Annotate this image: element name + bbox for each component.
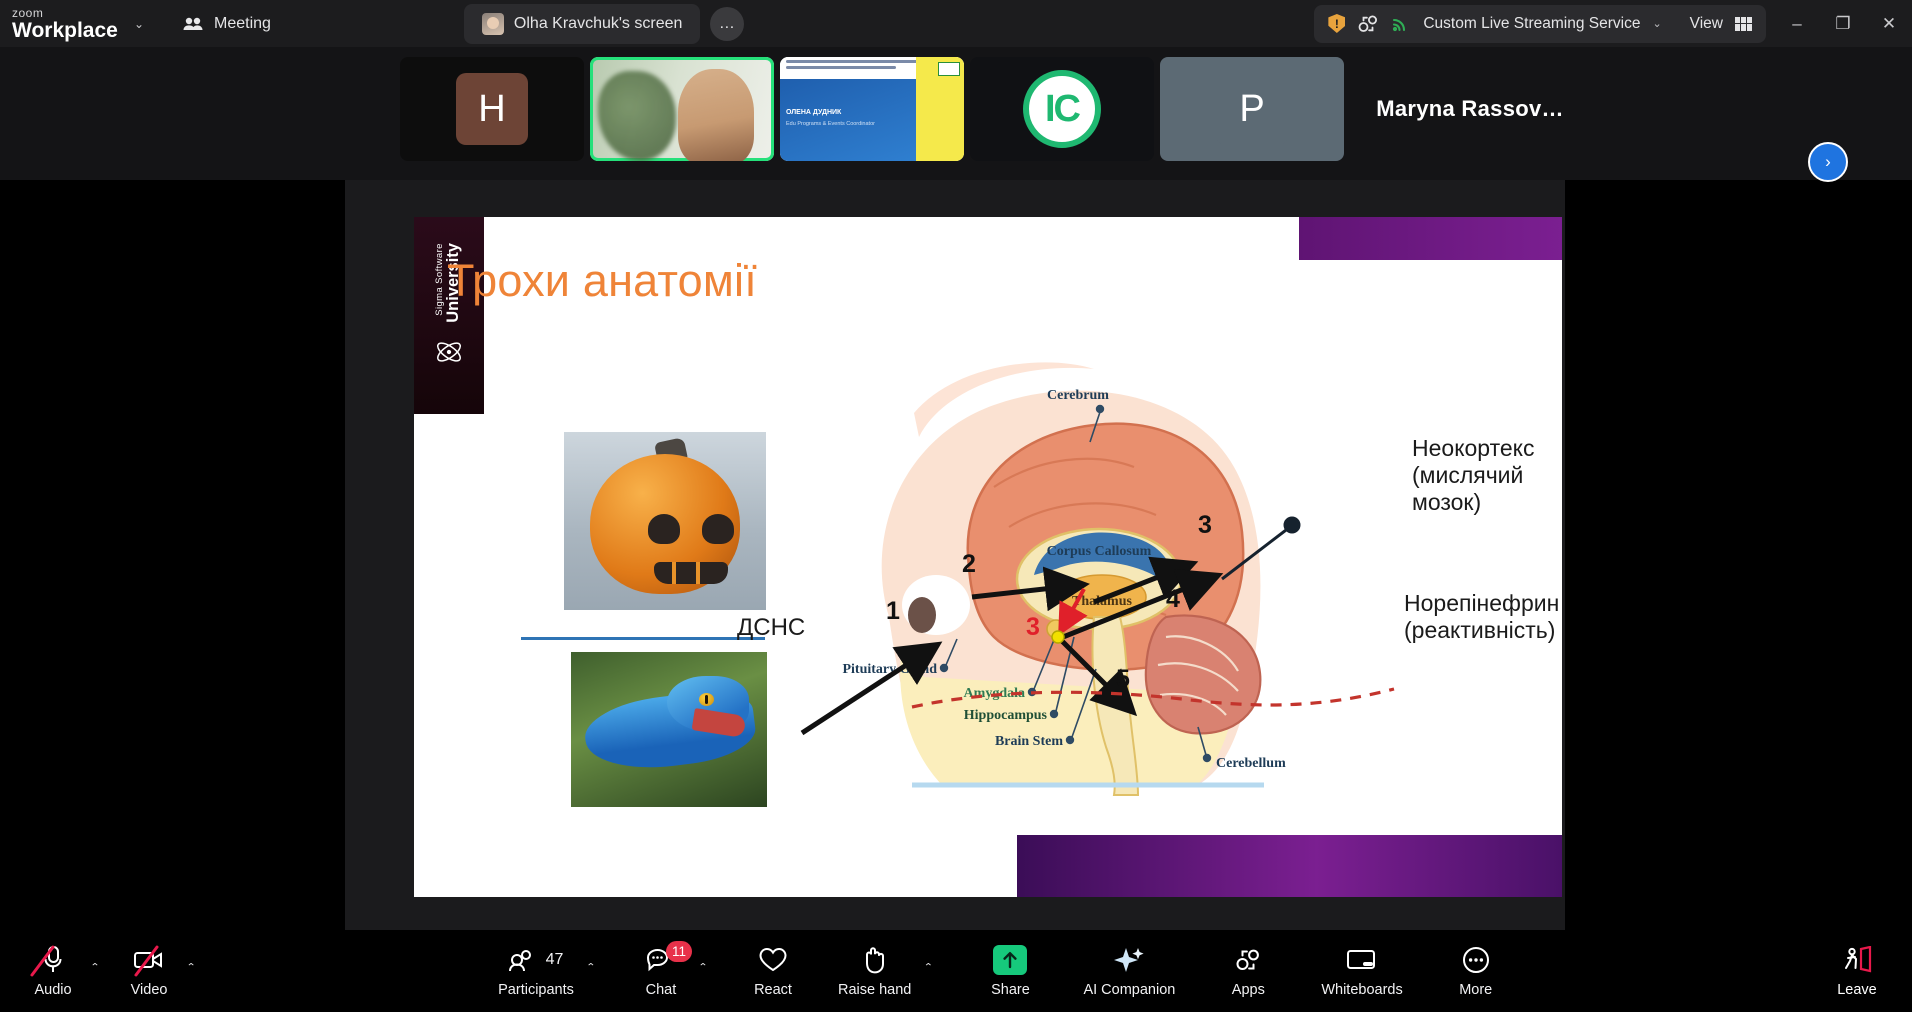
participants-chevron-up-icon[interactable]: ⌃ [580,958,602,976]
arrow-number-5: 5 [1116,665,1130,693]
shared-screen-stage: Sigma Software University Трохи анатомії… [345,180,1565,938]
apps-button[interactable]: Apps [1217,938,1279,1004]
avatar-icon [482,13,504,35]
whiteboard-icon [1346,945,1378,976]
chat-label: Chat [646,982,677,998]
brain-label-cerebrum: Cerebrum [1047,388,1109,403]
raise-hand-button[interactable]: Raise hand [832,938,917,1004]
minimize-button[interactable]: – [1774,0,1820,47]
slide-brand-sidebar: Sigma Software University [414,217,484,414]
more-label: More [1459,982,1492,998]
ai-companion-button[interactable]: AI Companion [1077,938,1181,1004]
microphone-off-icon [40,945,66,976]
slide-title: Трохи анатомії [447,255,757,307]
thumbnail-nadiia[interactable]: H [400,57,584,161]
zoom-meeting-window: zoom Workplace ⌄ Meeting Olha Kravchuk's… [0,0,1912,1012]
leave-button[interactable]: Leave [1826,938,1888,1004]
title-bar: zoom Workplace ⌄ Meeting Olha Kravchuk's… [0,0,1912,47]
thumbnail-olena[interactable]: ОЛЕНА ДУДНИК Edu Programs & Events Coord… [780,57,964,161]
brain-label-corpus-callosum: Corpus Callosum [1047,544,1152,559]
callout-neocortex: Неокортекс (мислячий мозок) [1412,435,1534,516]
arrow-number-3: 3 [1198,511,1212,539]
audio-button[interactable]: Audio [22,938,84,1004]
arrow-number-4: 4 [1166,585,1180,613]
window-controls: – ❐ ✕ [1774,0,1912,47]
raise-hand-label: Raise hand [838,982,911,998]
video-button[interactable]: Video [118,938,180,1004]
tab-meeting-label: Meeting [214,15,271,33]
more-button[interactable]: More [1445,938,1507,1004]
kharkiv-it-cluster-logo: IC [1023,70,1101,148]
snake-eye [699,693,714,706]
chat-button[interactable]: 11 Chat [630,938,692,1004]
zoom-logo[interactable]: zoom Workplace [0,7,120,41]
whiteboards-button[interactable]: Whiteboards [1315,938,1408,1004]
snake-photo [571,652,767,807]
close-button[interactable]: ✕ [1866,0,1912,47]
avatar: H [400,57,584,161]
heart-icon [758,945,788,976]
video-chevron-up-icon[interactable]: ⌃ [180,958,202,976]
people-icon: 47 [509,945,564,976]
stream-chevron-down-icon[interactable]: ⌄ [1652,17,1661,30]
thumbnail-maryna[interactable]: Maryna Rassov… [1350,57,1590,161]
brain-illustration: Cerebrum Corpus Callosum Thalamus Pituit… [794,317,1434,817]
avatar-initial: H [456,73,528,145]
thumbnail-row: H ОЛЕНА ДУДНИК Edu Programs & Events Coo… [400,57,1590,161]
photo-divider [521,637,765,640]
pumpkin-body [590,454,740,594]
share-label: Share [991,982,1030,998]
thumbnail-olha[interactable] [590,57,774,161]
whiteboards-label: Whiteboards [1321,982,1402,998]
audio-label: Audio [34,982,71,998]
tab-shared-screen[interactable]: Olha Kravchuk's screen [464,4,700,44]
atom-icon [434,337,464,367]
audio-chevron-up-icon[interactable]: ⌃ [84,958,106,976]
sparkle-icon [1113,945,1145,976]
ellipsis-icon [1462,945,1490,976]
red-marker-3: 3 [1026,613,1040,641]
leave-label: Leave [1837,982,1877,998]
mini-slide-body: ОЛЕНА ДУДНИК Edu Programs & Events Coord… [780,79,916,161]
brand-zoom: zoom [12,7,120,19]
react-button[interactable]: React [742,938,804,1004]
callout-norepinephrine-line1: Норепінефрин [1404,590,1559,617]
chat-chevron-up-icon[interactable]: ⌃ [692,958,714,976]
callout-norepinephrine-line2: (реактивність) [1404,617,1559,644]
slide-decoration-bottom-right [1017,835,1562,897]
pumpkin-photo [564,432,766,610]
callout-norepinephrine: Норепінефрин (реактивність) [1404,590,1559,644]
callout-neocortex-line3: мозок) [1412,489,1534,516]
restore-button[interactable]: ❐ [1820,0,1866,47]
tab-more-options-button[interactable]: … [710,7,744,41]
mini-qr-icon [938,62,960,76]
hand-icon [862,945,888,976]
video-label: Video [131,982,168,998]
brain-label-cerebellum: Cerebellum [1216,756,1286,771]
pumpkin-mouth [654,562,728,584]
brand-chevron-down-icon[interactable]: ⌄ [126,11,152,37]
participants-label: Participants [498,982,574,998]
raise-hand-chevron-up-icon[interactable]: ⌃ [917,958,939,976]
thumbnail-roman[interactable]: P [1160,57,1344,161]
title-bar-right: Custom Live Streaming Service ⌄ View – ❐… [1314,0,1912,47]
share-screen-icon [993,945,1027,976]
brand-workplace: Workplace [12,20,120,41]
people-icon [182,16,204,32]
callout-dsns: ДСНС [737,614,805,642]
meeting-toolbar: Audio ⌃ Video ⌃ [0,930,1912,1012]
chat-unread-badge: 11 [666,941,692,962]
status-pill: Custom Live Streaming Service ⌄ View [1314,5,1766,43]
camera-off-icon [133,945,165,976]
participants-button[interactable]: 47 Participants [492,938,580,1004]
pumpkin-eye-right [702,514,734,544]
pumpkin-eye-left [648,514,680,544]
mini-slide-role: Edu Programs & Events Coordinator [786,121,875,128]
mini-slide-accent [916,57,964,161]
avatar: P [1160,57,1344,161]
ai-companion-label: AI Companion [1083,982,1175,998]
view-label[interactable]: View [1690,15,1723,33]
thumbnail-polina[interactable]: IC [970,57,1154,161]
react-label: React [754,982,792,998]
tab-shared-screen-label: Olha Kravchuk's screen [514,15,682,33]
brain-diagram: Cerebrum Corpus Callosum Thalamus Pituit… [794,317,1434,817]
share-button[interactable]: Share [979,938,1041,1004]
apps-icon [1234,945,1262,976]
toolbar-center-group: 47 Participants ⌃ 11 Chat ⌃ [492,938,1507,1004]
participants-count: 47 [546,951,564,969]
mini-slide-name: ОЛЕНА ДУДНИК [786,109,841,116]
participant-filmstrip: H ОЛЕНА ДУДНИК Edu Programs & Events Coo… [0,47,1912,180]
live-streaming-label: Custom Live Streaming Service [1423,15,1640,33]
filmstrip-next-button[interactable]: › [1808,142,1848,182]
arrow-number-2: 2 [962,550,976,578]
slide-decoration-top-right [1299,217,1562,260]
callout-neocortex-line2: (мислячий [1412,462,1534,489]
chat-bubble-icon: 11 [646,945,676,976]
apps-label: Apps [1232,982,1265,998]
avatar-initial: P [1216,73,1288,145]
broadcast-icon[interactable] [1391,15,1411,33]
callout-neocortex-line1: Неокортекс [1412,435,1534,462]
apps-icon[interactable] [1357,15,1379,33]
arrow-number-1: 1 [886,597,900,625]
layout-grid-icon[interactable] [1735,17,1752,31]
tab-meeting[interactable]: Meeting [164,4,289,44]
leave-door-icon [1842,945,1872,976]
presentation-slide: Sigma Software University Трохи анатомії… [414,217,1562,897]
toolbar-left-group: Audio ⌃ Video ⌃ [22,938,202,1004]
brain-label-brain-stem: Brain Stem [995,734,1063,749]
brain-label-hippocampus: Hippocampus [964,708,1048,723]
security-shield-icon[interactable] [1328,14,1345,33]
